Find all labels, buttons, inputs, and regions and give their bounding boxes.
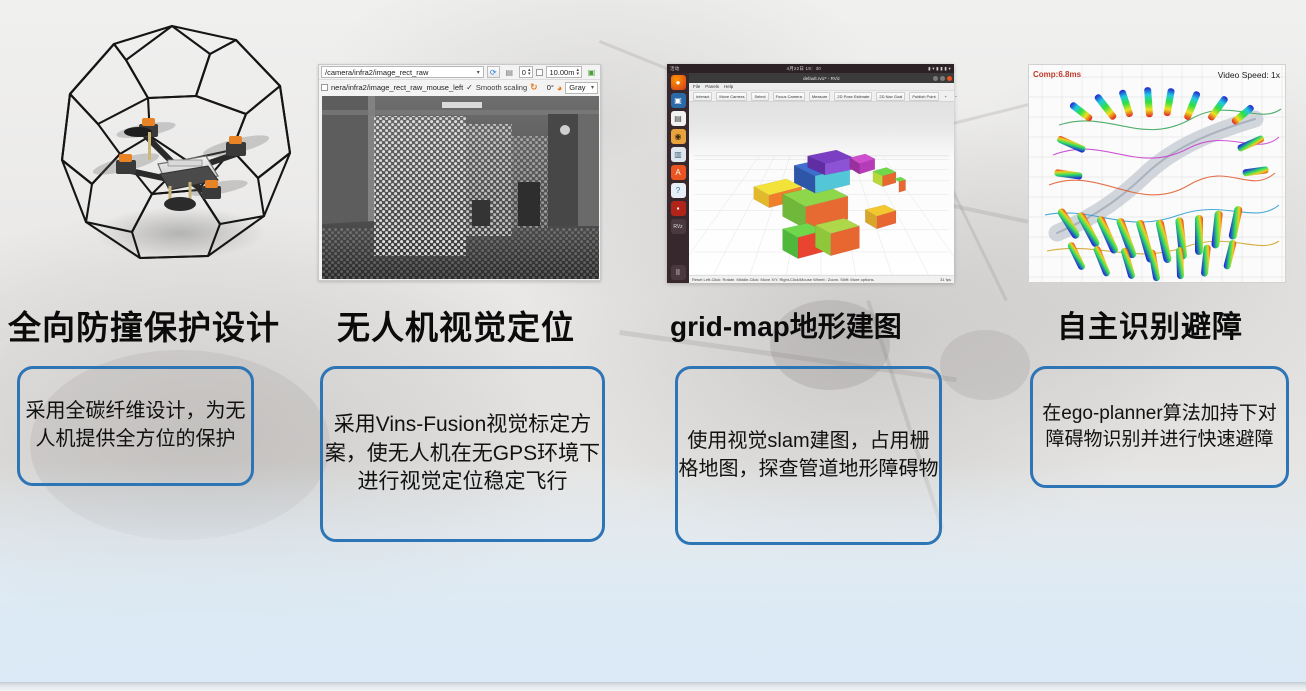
rviz-statusbar: Reset Left-Click: Rotate. Middle-Click: … (689, 275, 954, 283)
apps-grid-icon[interactable]: ⠿ (671, 265, 686, 280)
tool-select[interactable]: Select (751, 92, 768, 101)
max-range-value: 10.00m (549, 68, 574, 77)
compute-time-label: Comp:6.8ms (1033, 70, 1081, 79)
maximize-icon[interactable] (940, 76, 945, 81)
video-speed-label: Video Speed: 1x (1218, 70, 1280, 80)
slide-canvas: /camera/infra2/image_rect_raw ▾ ⟳ ▤ 0 ▴▾… (0, 0, 1306, 691)
rqt-topic-row[interactable]: /camera/infra2/image_rect_raw ▾ ⟳ ▤ 0 ▴▾… (319, 65, 600, 80)
rviz-status-hint: Reset Left-Click: Rotate. Middle-Click: … (692, 277, 875, 282)
tool-add[interactable]: + (943, 93, 949, 100)
firefox-icon[interactable]: ● (671, 75, 686, 90)
feature-description-box-4: 在ego-planner算法加持下对障碍物识别并进行快速避障 (1030, 366, 1289, 488)
ubuntu-clock[interactable]: 4月22日 19：30 (787, 66, 821, 72)
feature-description-1: 采用全碳纤维设计，为无人机提供全方位的保护 (20, 398, 251, 453)
chevron-down-icon[interactable]: ▾ (591, 84, 594, 91)
amazon-icon[interactable]: A (671, 165, 686, 180)
feature-description-box-1: 采用全碳纤维设计，为无人机提供全方位的保护 (17, 366, 254, 486)
ubuntu-activities-label[interactable]: 活动 (670, 66, 679, 72)
blue-base-gradient (0, 461, 1306, 691)
mouse-topic-checkbox[interactable] (321, 84, 328, 91)
rviz-menubar[interactable]: File Panels Help (689, 83, 954, 91)
terminal-icon[interactable]: ▪ (671, 201, 686, 216)
range-checkbox[interactable] (536, 69, 543, 76)
refresh-icon[interactable]: ⟳ (487, 66, 500, 78)
feature-title-4: 自主识别避障 (1057, 302, 1243, 346)
tool-interact[interactable]: Interact (693, 92, 712, 101)
tool-focus-camera[interactable]: Focus Camera (773, 92, 805, 101)
ubuntu-launcher-dock[interactable]: ● ▣ ▤ ◉ ▥ A ? ▪ RVz ⠿ (667, 73, 689, 283)
rviz-desktop-window[interactable]: 活动 4月22日 19：30 ▮ ▾ ▮ ▮ ▮ ▾ ● ▣ ▤ ◉ ▥ A ?… (667, 64, 954, 283)
color-swatch-icon[interactable]: ▣ (585, 66, 598, 78)
topic-combobox[interactable]: /camera/infra2/image_rect_raw ▾ (321, 66, 484, 78)
ir-camera-frame (322, 96, 599, 279)
rviz-3d-viewport[interactable] (689, 102, 954, 275)
tool-2d-pose-estimate[interactable]: 2D Pose Estimate (834, 92, 872, 101)
palette-icon[interactable]: ◕ (557, 83, 562, 93)
rviz-toolbar[interactable]: Interact Move Camera Select Focus Camera… (689, 91, 954, 102)
feature-title-3: grid-map地形建图 (670, 305, 902, 345)
feature-description-3: 使用视觉slam建图，占用栅格地图，探查管道地形障碍物 (678, 428, 939, 483)
menu-file[interactable]: File (693, 84, 700, 89)
feature-description-box-3: 使用视觉slam建图，占用栅格地图，探查管道地形障碍物 (675, 366, 942, 545)
tool-move-camera[interactable]: Move Camera (716, 92, 747, 101)
spin-arrows-icon[interactable]: ▴▾ (576, 68, 579, 76)
feature-description-4: 在ego-planner算法加持下对障碍物识别并进行快速避障 (1033, 401, 1286, 453)
tool-remove[interactable]: − (953, 93, 959, 100)
image-trajectory-avoidance: Comp:6.8ms Video Speed: 1x (1028, 64, 1286, 283)
index-spinbox[interactable]: 0 ▴▾ (519, 66, 534, 78)
rqt-image-view-window[interactable]: /camera/infra2/image_rect_raw ▾ ⟳ ▤ 0 ▴▾… (318, 64, 601, 281)
index-value: 0 (522, 68, 526, 77)
max-range-spinbox[interactable]: 10.00m ▴▾ (546, 66, 582, 78)
topic-value: /camera/infra2/image_rect_raw (325, 68, 474, 77)
help-icon[interactable]: ? (671, 183, 686, 198)
save-icon[interactable]: ▤ (503, 66, 516, 78)
tool-publish-point[interactable]: Publish Point (909, 92, 938, 101)
ubuntu-indicators[interactable]: ▮ ▾ ▮ ▮ ▮ ▾ (928, 66, 951, 72)
feature-title-1: 全向防撞保护设计 (8, 301, 280, 349)
smooth-scaling-label: Smooth scaling (476, 83, 527, 92)
rqt-options-row[interactable]: nera/infra2/image_rect_raw_mouse_left ✓ … (319, 80, 600, 95)
smooth-scaling-check-icon[interactable]: ✓ (466, 83, 473, 92)
camera-image-canvas (322, 96, 599, 279)
tool-measure[interactable]: Measure (809, 92, 831, 101)
caged-drone-illustration (40, 18, 310, 290)
spin-arrows-icon[interactable]: ▴▾ (528, 68, 531, 76)
software-center-icon[interactable]: ◉ (671, 129, 686, 144)
minimize-icon[interactable] (933, 76, 938, 81)
menu-help[interactable]: Help (724, 84, 733, 89)
slide-bottom-bar (0, 682, 1306, 691)
text-editor-icon[interactable]: ▥ (671, 147, 686, 162)
files-icon[interactable]: ▣ (671, 93, 686, 108)
mouse-topic-label: nera/infra2/image_rect_raw_mouse_left (331, 83, 463, 92)
window-controls[interactable] (933, 76, 952, 81)
close-icon[interactable] (947, 76, 952, 81)
ubuntu-top-panel[interactable]: 活动 4月22日 19：30 ▮ ▾ ▮ ▮ ▮ ▾ (667, 64, 954, 73)
color-scheme-combobox[interactable]: Gray ▾ (565, 82, 598, 94)
writer-icon[interactable]: ▤ (671, 111, 686, 126)
rviz-icon[interactable]: RVz (671, 219, 686, 234)
feature-title-2: 无人机视觉定位 (337, 301, 575, 349)
feature-description-2: 采用Vins-Fusion视觉标定方案，使无人机在无GPS环境下进行视觉定位稳定… (323, 411, 602, 498)
rviz-fps-counter: 31 fps (940, 277, 951, 282)
chevron-down-icon[interactable]: ▾ (477, 69, 480, 76)
rviz-titlebar[interactable]: default.rviz* - RViz (689, 73, 954, 83)
image-caged-drone (40, 18, 310, 290)
color-scheme-value: Gray (569, 83, 585, 92)
rotate-icon[interactable]: ↻ (530, 82, 538, 93)
rviz-application-window[interactable]: default.rviz* - RViz File Panels Help In… (689, 73, 954, 283)
feature-description-box-2: 采用Vins-Fusion视觉标定方案，使无人机在无GPS环境下进行视觉定位稳定… (320, 366, 605, 542)
grid-map-voxels (689, 102, 954, 275)
rotation-value: 0° (547, 83, 554, 92)
tool-2d-nav-goal[interactable]: 2D Nav Goal (876, 92, 905, 101)
rviz-window-title: default.rviz* - RViz (803, 76, 840, 81)
menu-panels[interactable]: Panels (705, 84, 719, 89)
ego-planner-trajectory-viz (1029, 65, 1286, 283)
